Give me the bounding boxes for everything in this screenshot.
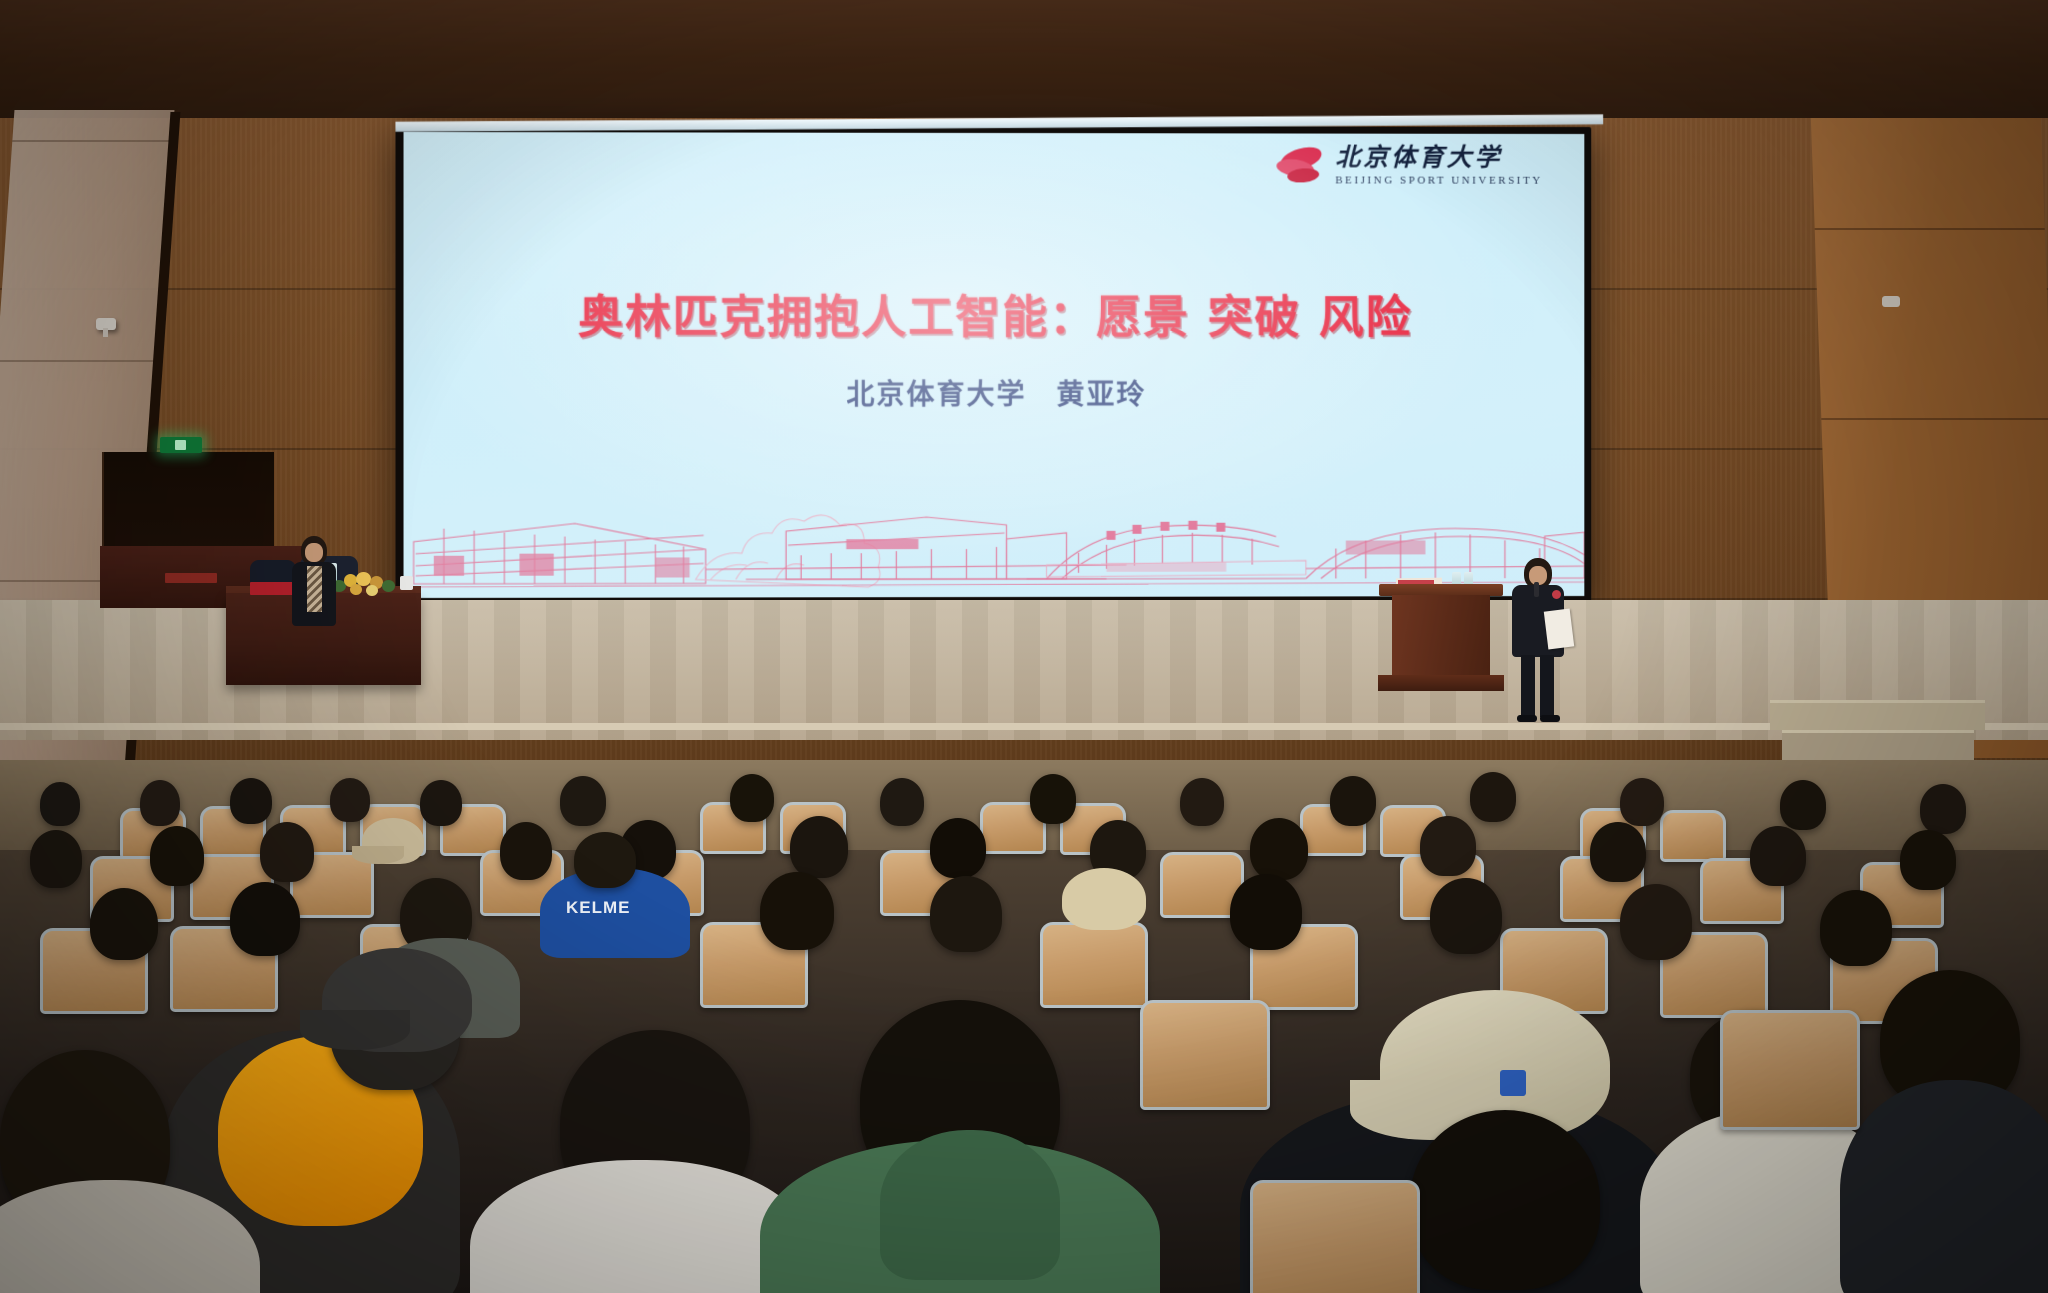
audience-head: [1920, 784, 1966, 834]
audience-person: [1840, 1080, 2048, 1293]
audience-head: [1180, 778, 1224, 826]
cap-brim: [300, 1010, 410, 1050]
beige-cap: [1062, 868, 1146, 930]
green-hood: [880, 1130, 1060, 1280]
audience-head: [1620, 884, 1692, 960]
seat: [1040, 922, 1148, 1008]
audience-person: [470, 1160, 810, 1293]
microphone-icon: [1534, 582, 1539, 597]
audience-head: [1590, 822, 1646, 882]
cap-brim: [352, 846, 404, 864]
seat: [1250, 1180, 1420, 1293]
audience-head: [1430, 878, 1502, 954]
audience-head: [1410, 1110, 1600, 1290]
auditorium-photo: 北京体育大学 BEIJING SPORT UNIVERSITY 奥林匹克拥抱人工…: [0, 0, 2048, 1293]
audience-head: [1420, 816, 1476, 876]
audience-head: [420, 780, 462, 826]
audience-head: [1030, 774, 1076, 824]
audience-head: [560, 776, 606, 826]
audience-head: [1470, 772, 1516, 822]
audience-head: [1230, 874, 1302, 950]
audience-head: [1250, 818, 1308, 880]
audience-head: [230, 778, 272, 824]
audience-head: [40, 782, 80, 826]
camera-icon: [96, 318, 116, 330]
exit-sign-icon: [160, 437, 202, 453]
ceiling-soffit: [0, 0, 2048, 132]
slide-subtitle: 北京体育大学 黄亚玲: [404, 373, 1585, 413]
audience-head: [90, 888, 158, 960]
audience-head: [150, 826, 204, 886]
flower-arrangement: [330, 570, 398, 596]
bsu-logo: 北京体育大学 BEIJING SPORT UNIVERSITY: [1275, 145, 1543, 186]
audience-head: [140, 780, 180, 826]
audience-head: [880, 778, 924, 826]
audience-head: [760, 872, 834, 950]
audience-head: [230, 882, 300, 956]
slide-title: 奥林匹克拥抱人工智能：愿景 突破 风险: [404, 281, 1585, 346]
audience-head: [574, 832, 636, 888]
seat: [1140, 1000, 1270, 1110]
audience-head: [930, 818, 986, 878]
slide-surface: 北京体育大学 BEIJING SPORT UNIVERSITY 奥林匹克拥抱人工…: [404, 132, 1585, 598]
camera-icon: [1882, 296, 1900, 307]
speaker-papers: [1544, 609, 1574, 650]
table-document: [165, 573, 217, 583]
audience-head: [1750, 826, 1806, 886]
cap-logo-icon: [1500, 1070, 1526, 1096]
audience-head: [500, 822, 552, 880]
jacket-brand-text: KELME: [566, 898, 631, 918]
audience-head: [790, 816, 848, 878]
audience-head: [1820, 890, 1892, 966]
campus-skyline-illustration: [404, 482, 1585, 592]
logo-english-name: BEIJING SPORT UNIVERSITY: [1335, 175, 1542, 186]
cup: [400, 576, 413, 590]
audience-head: [260, 822, 314, 882]
audience-head: [1330, 776, 1376, 826]
audience-head: [330, 778, 370, 822]
bsu-swirl-icon: [1275, 146, 1327, 186]
audience-head: [730, 774, 774, 822]
projection-screen: 北京体育大学 BEIJING SPORT UNIVERSITY 奥林匹克拥抱人工…: [395, 125, 1591, 605]
podium-base: [1378, 675, 1504, 691]
audience-head: [1620, 778, 1664, 826]
audience-head: [930, 876, 1002, 952]
podium: [1392, 595, 1490, 675]
logo-chinese-name: 北京体育大学: [1335, 146, 1542, 171]
seat: [1720, 1010, 1860, 1130]
audience-head: [1900, 830, 1956, 890]
audience-head: [1780, 780, 1826, 830]
audience-area: KELME: [0, 760, 2048, 1293]
seat: [1660, 810, 1726, 862]
audience-head: [30, 830, 82, 888]
